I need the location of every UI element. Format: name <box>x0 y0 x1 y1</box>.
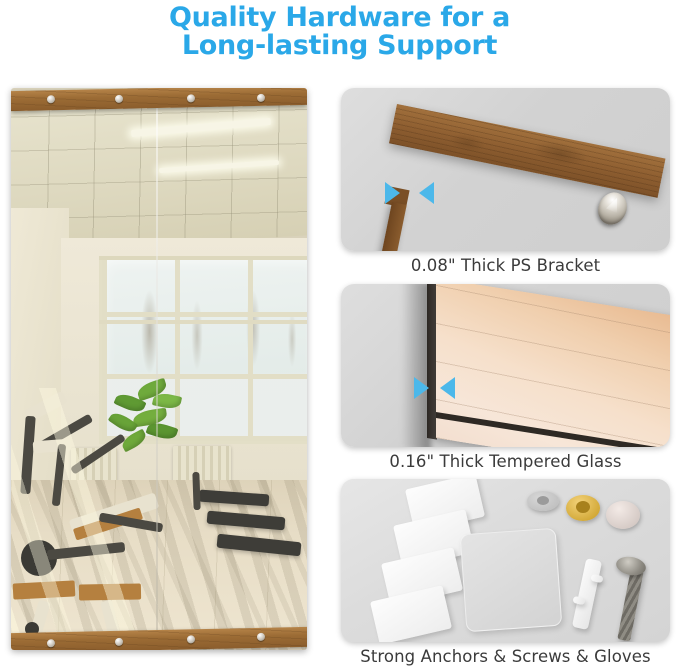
page-title-line-1: Quality Hardware for a <box>0 4 679 32</box>
glass-illustration <box>341 284 670 447</box>
window-muntin <box>99 256 307 260</box>
potted-plant <box>107 380 183 466</box>
caption-bracket: 0.08" Thick PS Bracket <box>341 256 670 275</box>
frame-screw <box>47 95 55 103</box>
frame-screw <box>187 635 195 643</box>
gray-washer <box>527 491 559 511</box>
frame-screw <box>115 638 123 646</box>
frame-screw <box>257 94 265 102</box>
frame-screw <box>115 95 123 103</box>
mirror-reflection-scene <box>11 88 307 650</box>
adhesive-plate <box>460 528 563 632</box>
brass-grommet <box>566 495 600 521</box>
thickness-arrow-right-icon <box>385 182 400 204</box>
gym-bench-post <box>192 472 200 510</box>
bracket-side-edge <box>380 202 407 251</box>
thickness-arrow-right-icon <box>414 377 429 399</box>
thickness-arrow-left-icon <box>419 182 434 204</box>
bench-wood-pad <box>13 580 76 599</box>
page-title: Quality Hardware for a Long-lasting Supp… <box>0 4 679 60</box>
frame-screw <box>257 633 265 641</box>
mirror-panel-seam <box>156 108 158 630</box>
feature-panel-glass <box>341 284 670 447</box>
page-title-line-2: Long-lasting Support <box>0 32 679 60</box>
bracket-screw-head <box>593 188 632 229</box>
bench-wood-pad <box>79 583 141 600</box>
clear-cap <box>606 501 640 529</box>
thickness-arrow-left-icon <box>440 377 455 399</box>
frame-screw <box>47 639 55 647</box>
frame-screw <box>187 94 195 102</box>
plant-leaf <box>108 409 138 435</box>
caption-glass: 0.16" Thick Tempered Glass <box>341 452 670 471</box>
feature-panel-hardware <box>341 479 670 642</box>
bracket-illustration <box>341 88 670 251</box>
caption-hardware: Strong Anchors & Screws & Gloves <box>341 647 670 666</box>
window-muntin <box>99 320 307 324</box>
plant-leaf <box>146 420 179 443</box>
feature-panel-bracket <box>341 88 670 251</box>
mirror-product-photo <box>11 88 307 650</box>
